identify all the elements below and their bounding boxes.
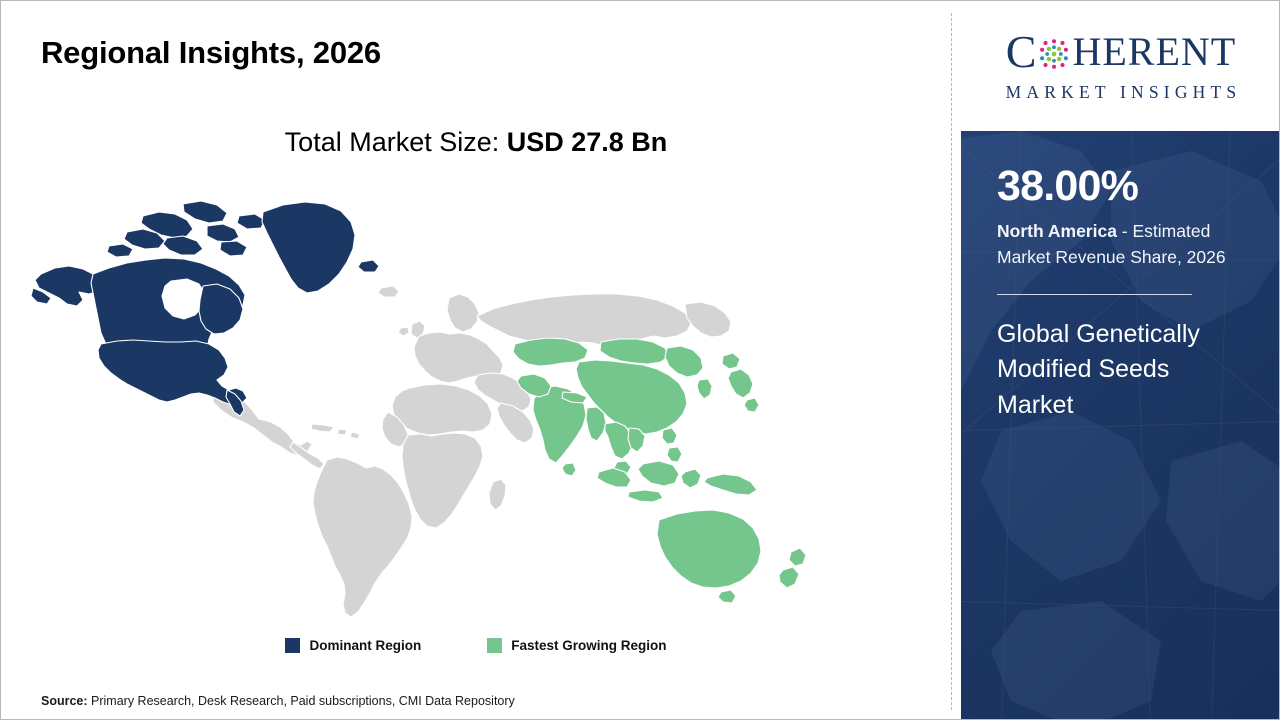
map-region-inactive <box>213 286 731 617</box>
source-key: Source: <box>41 694 88 708</box>
company-logo: C <box>961 1 1280 131</box>
globe-sphere-icon <box>1037 37 1071 71</box>
source-value: Primary Research, Desk Research, Paid su… <box>88 694 515 708</box>
dominant-region-swatch <box>285 638 300 653</box>
map-region-dominant <box>31 201 379 416</box>
left-content-panel: Regional Insights, 2026 Total Market Siz… <box>1 1 951 720</box>
map-region-fastest-growing <box>513 338 806 603</box>
legend-label-fastest-growing: Fastest Growing Region <box>511 638 666 653</box>
map-legend: Dominant Region Fastest Growing Region <box>1 638 951 653</box>
legend-item-fastest-growing: Fastest Growing Region <box>487 638 666 653</box>
logo-letter-c: C <box>1006 29 1038 75</box>
page-title: Regional Insights, 2026 <box>41 35 381 71</box>
stat-description: North America - Estimated Market Revenue… <box>997 219 1251 270</box>
regional-stat-panel: 38.00% North America - Estimated Market … <box>961 131 1280 720</box>
vertical-dashed-divider <box>951 13 952 710</box>
fastest-growing-region-swatch <box>487 638 502 653</box>
market-size-label: Total Market Size: <box>285 127 507 157</box>
logo-subtitle: MARKET INSIGHTS <box>1001 82 1242 103</box>
source-note: Source: Primary Research, Desk Research,… <box>41 694 515 708</box>
world-map <box>31 176 831 621</box>
stat-percentage: 38.00% <box>997 164 1251 209</box>
legend-item-dominant: Dominant Region <box>285 638 421 653</box>
logo-letters-herent: HERENT <box>1072 32 1236 72</box>
panel-divider-rule <box>997 294 1192 295</box>
infographic-canvas: Regional Insights, 2026 Total Market Siz… <box>0 0 1280 720</box>
panel-content: 38.00% North America - Estimated Market … <box>961 131 1280 720</box>
logo-wordmark: C <box>1006 29 1236 75</box>
stat-region-name: North America <box>997 221 1117 241</box>
total-market-size: Total Market Size: USD 27.8 Bn <box>1 127 951 158</box>
legend-label-dominant: Dominant Region <box>309 638 421 653</box>
market-report-name: Global Genetically Modified Seeds Market <box>997 317 1247 424</box>
market-size-value: USD 27.8 Bn <box>507 127 668 157</box>
